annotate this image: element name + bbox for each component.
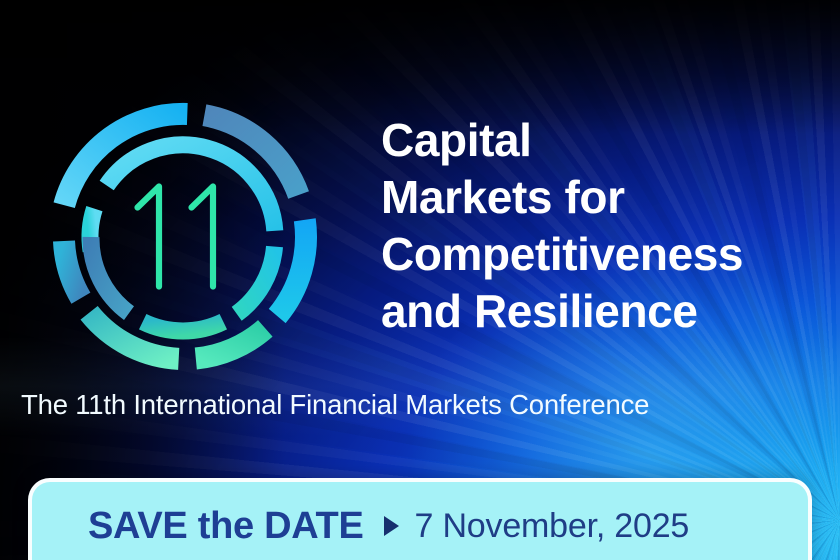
headline-line-3: Competitiveness	[381, 226, 833, 283]
headline-line-4: and Resilience	[381, 283, 833, 340]
logo-number-11	[138, 187, 214, 287]
logo-inner-ring	[90, 145, 275, 331]
subtitle: The 11th International Financial Markets…	[21, 389, 649, 421]
conference-poster: Capital Markets for Competitiveness and …	[0, 0, 840, 560]
save-the-date-label: SAVE the DATE	[88, 505, 364, 548]
headline-line-2: Markets for	[381, 169, 833, 226]
triangle-right-icon	[384, 516, 399, 536]
conference-logo	[36, 90, 330, 384]
headline: Capital Markets for Competitiveness and …	[381, 112, 833, 340]
headline-line-1: Capital	[381, 112, 833, 169]
save-the-date-banner[interactable]: SAVE the DATE 7 November, 2025	[28, 478, 812, 560]
event-date: 7 November, 2025	[415, 507, 690, 546]
